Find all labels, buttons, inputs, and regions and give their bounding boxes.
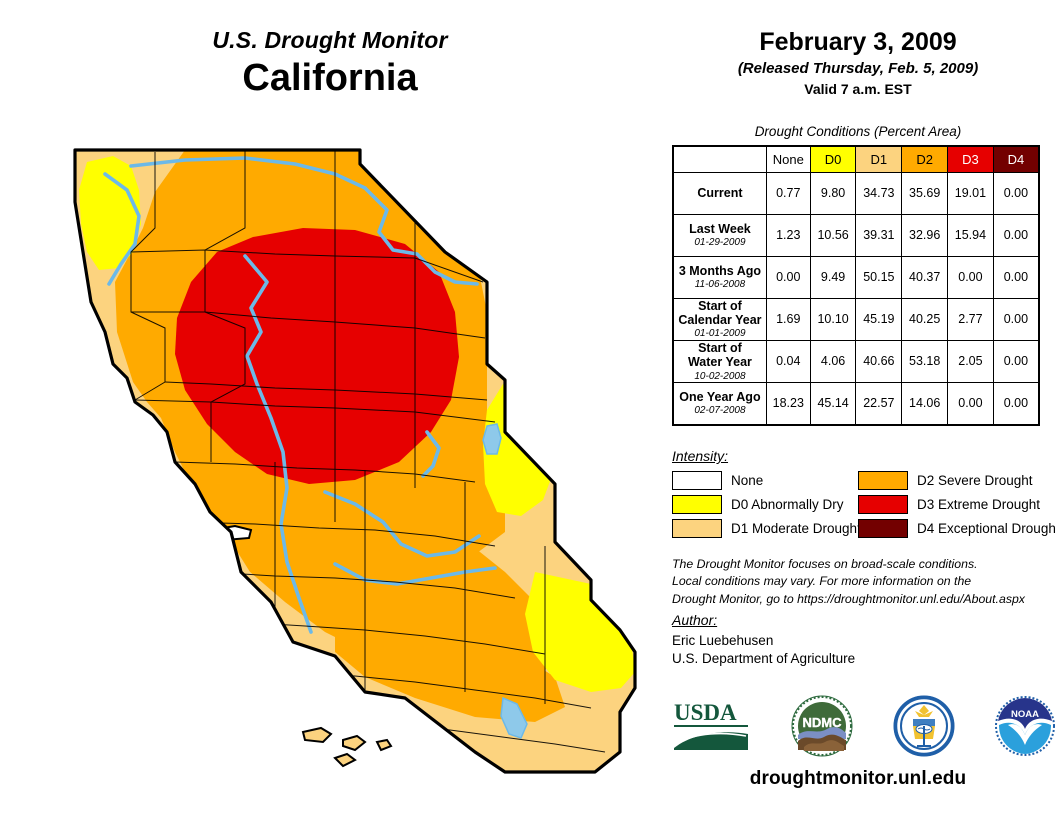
cell-none: 0.00 xyxy=(766,256,810,298)
cell-d3: 0.00 xyxy=(948,256,994,298)
drought-conditions-table: None D0 D1 D2 D3 D4 Current0.779.8034.73… xyxy=(672,145,1040,426)
row-label: Last Week01-29-2009 xyxy=(673,214,766,256)
table-row: Start ofWater Year10-02-20080.044.0640.6… xyxy=(673,340,1039,382)
san-francisco-bay xyxy=(181,532,207,590)
legend-label-d4: D4 Exceptional Drought xyxy=(917,521,1056,536)
author-name: Eric Luebehusen xyxy=(672,632,1052,650)
cell-d4: 0.00 xyxy=(993,340,1039,382)
legend-swatch-d3 xyxy=(858,495,908,514)
author-block: Author: Eric Luebehusen U.S. Department … xyxy=(672,612,1052,668)
map-title-program: U.S. Drought Monitor xyxy=(0,28,660,53)
cell-d4: 0.00 xyxy=(993,298,1039,340)
logo-row: USDA NDMC xyxy=(672,690,1056,762)
svg-text:NOAA: NOAA xyxy=(1011,709,1039,720)
intensity-legend: Intensity: NoneD2 Severe DroughtD0 Abnor… xyxy=(672,448,1052,538)
channel-islands xyxy=(303,728,391,766)
cell-d4: 0.00 xyxy=(993,172,1039,214)
cell-d1: 39.31 xyxy=(856,214,902,256)
column-header-none: None xyxy=(766,146,810,172)
table-row: Start ofCalendar Year01-01-20091.6910.10… xyxy=(673,298,1039,340)
legend-item-d2: D2 Severe Drought xyxy=(858,471,1052,490)
date-block: February 3, 2009 (Released Thursday, Feb… xyxy=(660,28,1056,97)
svg-text:NDMC: NDMC xyxy=(803,715,843,730)
map-title-state: California xyxy=(0,57,660,101)
legend-label-d3: D3 Extreme Drought xyxy=(917,497,1040,512)
table-header-row: None D0 D1 D2 D3 D4 xyxy=(673,146,1039,172)
table-caption: Drought Conditions (Percent Area) xyxy=(660,124,1056,139)
cell-d3: 15.94 xyxy=(948,214,994,256)
cell-d4: 0.00 xyxy=(993,256,1039,298)
legend-swatch-d1 xyxy=(672,519,722,538)
data-panel: February 3, 2009 (Released Thursday, Feb… xyxy=(660,0,1056,816)
valid-time: Valid 7 a.m. EST xyxy=(660,81,1056,97)
cell-d1: 45.19 xyxy=(856,298,902,340)
cell-d0: 9.80 xyxy=(810,172,856,214)
cell-d3: 0.00 xyxy=(948,383,994,425)
cell-none: 1.69 xyxy=(766,298,810,340)
legend-label-d0: D0 Abnormally Dry xyxy=(731,497,844,512)
cell-d0: 10.10 xyxy=(810,298,856,340)
row-date: 01-29-2009 xyxy=(674,237,766,249)
cell-none: 0.77 xyxy=(766,172,810,214)
row-date: 02-07-2008 xyxy=(674,405,766,417)
cell-d0: 9.49 xyxy=(810,256,856,298)
legend-item-none: None xyxy=(672,471,858,490)
legend-swatch-d0 xyxy=(672,495,722,514)
cell-d1: 40.66 xyxy=(856,340,902,382)
cell-d0: 4.06 xyxy=(810,340,856,382)
intensity-legend-grid: NoneD2 Severe DroughtD0 Abnormally DryD3… xyxy=(672,471,1052,538)
column-header-d1: D1 xyxy=(856,146,902,172)
row-label: Current xyxy=(673,172,766,214)
column-header-d4: D4 xyxy=(993,146,1039,172)
california-drought-map[interactable] xyxy=(35,132,645,792)
release-date: (Released Thursday, Feb. 5, 2009) xyxy=(660,60,1056,77)
row-label: Start ofWater Year10-02-2008 xyxy=(673,340,766,382)
cell-d1: 22.57 xyxy=(856,383,902,425)
row-date: 01-01-2009 xyxy=(674,328,766,340)
map-panel: U.S. Drought Monitor California xyxy=(0,0,660,816)
table-row: 3 Months Ago11-06-20080.009.4950.1540.37… xyxy=(673,256,1039,298)
cell-d0: 10.56 xyxy=(810,214,856,256)
table-corner-cell xyxy=(673,146,766,172)
cell-d2: 32.96 xyxy=(902,214,948,256)
california-map-svg[interactable] xyxy=(35,132,645,792)
cell-d2: 14.06 xyxy=(902,383,948,425)
cell-d4: 0.00 xyxy=(993,214,1039,256)
zone-d0-northwest xyxy=(79,156,141,270)
table-row: Last Week01-29-20091.2310.5639.3132.9615… xyxy=(673,214,1039,256)
row-label: Start ofCalendar Year01-01-2009 xyxy=(673,298,766,340)
legend-swatch-d2 xyxy=(858,471,908,490)
cell-none: 0.04 xyxy=(766,340,810,382)
table-row: One Year Ago02-07-200818.2345.1422.5714.… xyxy=(673,383,1039,425)
cell-none: 18.23 xyxy=(766,383,810,425)
disclaimer-line-1: The Drought Monitor focuses on broad-sca… xyxy=(672,556,1056,573)
noaa-logo: NOAA xyxy=(994,695,1056,757)
legend-label-none: None xyxy=(731,473,763,488)
row-date: 11-06-2008 xyxy=(674,279,766,291)
author-label: Author: xyxy=(672,612,1052,628)
map-title-block: U.S. Drought Monitor California xyxy=(0,28,660,101)
legend-item-d0: D0 Abnormally Dry xyxy=(672,495,858,514)
cell-d1: 34.73 xyxy=(856,172,902,214)
table-row: Current0.779.8034.7335.6919.010.00 xyxy=(673,172,1039,214)
row-label: 3 Months Ago11-06-2008 xyxy=(673,256,766,298)
disclaimer-text: The Drought Monitor focuses on broad-sca… xyxy=(672,556,1056,608)
legend-item-d4: D4 Exceptional Drought xyxy=(858,519,1052,538)
row-date: 10-02-2008 xyxy=(674,371,766,383)
legend-swatch-d4 xyxy=(858,519,908,538)
cell-d4: 0.00 xyxy=(993,383,1039,425)
cell-d1: 50.15 xyxy=(856,256,902,298)
cell-d2: 40.37 xyxy=(902,256,948,298)
cell-d2: 40.25 xyxy=(902,298,948,340)
website-url[interactable]: droughtmonitor.unl.edu xyxy=(660,768,1056,790)
disclaimer-line-2: Local conditions may vary. For more info… xyxy=(672,573,1056,590)
legend-item-d1: D1 Moderate Drought xyxy=(672,519,858,538)
svg-text:USDA: USDA xyxy=(674,700,737,725)
disclaimer-line-3: Drought Monitor, go to https://droughtmo… xyxy=(672,591,1056,608)
cell-d2: 35.69 xyxy=(902,172,948,214)
legend-label-d1: D1 Moderate Drought xyxy=(731,521,861,536)
row-label: One Year Ago02-07-2008 xyxy=(673,383,766,425)
cell-d2: 53.18 xyxy=(902,340,948,382)
author-organization: U.S. Department of Agriculture xyxy=(672,650,1052,668)
table-body: Current0.779.8034.7335.6919.010.00Last W… xyxy=(673,172,1039,425)
commerce-seal-logo xyxy=(893,695,955,757)
column-header-d3: D3 xyxy=(948,146,994,172)
legend-item-d3: D3 Extreme Drought xyxy=(858,495,1052,514)
ndmc-logo: NDMC xyxy=(791,695,853,757)
cell-d3: 19.01 xyxy=(948,172,994,214)
cell-d0: 45.14 xyxy=(810,383,856,425)
intensity-legend-title: Intensity: xyxy=(672,448,1052,464)
drought-zones xyxy=(35,132,645,792)
cell-d3: 2.05 xyxy=(948,340,994,382)
cell-d3: 2.77 xyxy=(948,298,994,340)
legend-label-d2: D2 Severe Drought xyxy=(917,473,1033,488)
cell-none: 1.23 xyxy=(766,214,810,256)
legend-swatch-none xyxy=(672,471,722,490)
usda-logo: USDA xyxy=(672,698,752,754)
column-header-d0: D0 xyxy=(810,146,856,172)
table-header: None D0 D1 D2 D3 D4 xyxy=(673,146,1039,172)
lake-tahoe xyxy=(483,424,501,454)
valid-date: February 3, 2009 xyxy=(660,28,1056,57)
column-header-d2: D2 xyxy=(902,146,948,172)
